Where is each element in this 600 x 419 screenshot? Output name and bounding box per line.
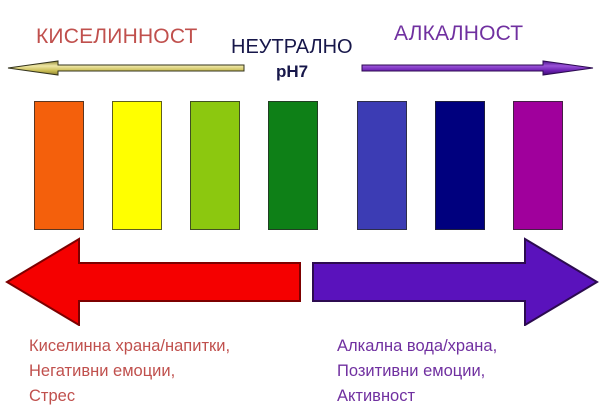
alkaline-trend-arrow <box>313 239 597 325</box>
acidity-heading: КИСЕЛИННОСТ <box>36 25 198 49</box>
acidic-caption-line-2: Негативни емоции, <box>29 359 230 384</box>
ph-bar-magenta <box>513 101 563 230</box>
trend-arrows-group <box>0 236 600 326</box>
ph-bar-green <box>268 101 318 230</box>
acidic-trend-arrow <box>7 239 300 325</box>
acidity-direction-arrow-icon <box>6 57 246 79</box>
alkalinity-heading: АЛКАЛНОСТ <box>394 22 523 46</box>
acidic-caption: Киселинна храна/напитки, Негативни емоци… <box>29 334 230 409</box>
acidic-caption-line-1: Киселинна храна/напитки, <box>29 334 230 359</box>
alkaline-caption: Алкална вода/храна, Позитивни емоции, Ак… <box>337 334 497 409</box>
ph-scale-infographic: КИСЕЛИННОСТ НЕУТРАЛНО pH7 АЛКАЛНОСТ <box>0 0 600 419</box>
ph-bar-yellow <box>112 101 162 230</box>
neutral-heading: НЕУТРАЛНО <box>231 36 353 59</box>
alkaline-caption-line-3: Активност <box>337 384 497 409</box>
ph-bar-yellow-green <box>190 101 240 230</box>
alkalinity-direction-arrow-icon <box>360 57 595 79</box>
ph-bar-orange <box>34 101 84 230</box>
ph-bar-slate-blue <box>357 101 407 230</box>
alkaline-caption-line-1: Алкална вода/храна, <box>337 334 497 359</box>
alkaline-caption-line-2: Позитивни емоции, <box>337 359 497 384</box>
acidic-caption-line-3: Стрес <box>29 384 230 409</box>
ph7-value-label: pH7 <box>276 62 308 82</box>
ph-bar-navy <box>435 101 485 230</box>
